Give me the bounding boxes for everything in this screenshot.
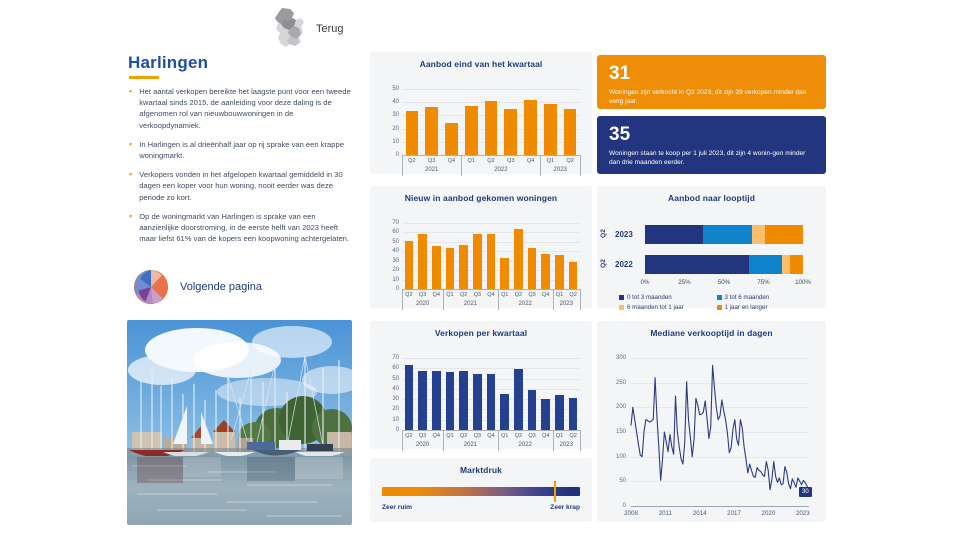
y-axis-tick: 60 [385,365,399,371]
list-item-text: Verkopers vonden in het afgelopen kwarta… [139,169,351,203]
gauge-title: Marktdruk [370,458,592,475]
axis-group-separator [443,289,444,310]
next-page-label: Volgende pagina [180,281,262,293]
legend-item: 0 tot 3 maanden [619,294,717,301]
bar [487,374,496,430]
list-item-text: In Harlingen is al drieënhalf jaar op ri… [139,139,351,161]
x-axis-tick: 2017 [727,510,741,517]
gridline [402,89,580,90]
stat-text: Woningen staan te koop per 1 juli 2023, … [609,149,814,168]
axis-group-separator [580,155,581,176]
chart-aanbod-eind-kwartaal: Aanbod eind van het kwartaal 01020304050… [370,52,592,174]
stacked-bar-segment [749,255,782,274]
axis-group-separator [498,289,499,310]
line-series [597,338,826,523]
y-axis-tick: 40 [385,99,399,105]
bar [405,365,414,430]
x-axis-quarter-label: Q4 [487,433,494,439]
legend-item: 1 jaar en langer [717,304,815,311]
list-item-text: Het aantal verkopen bereikte het laagste… [139,86,351,131]
y-axis-tick: 70 [385,220,399,226]
x-axis-percent-tick: 25% [678,279,690,286]
bar [500,394,509,430]
bar [425,107,438,155]
legend-item: 3 tot 6 maanden [717,294,815,301]
gauge-label-right: Zeer krap [550,504,580,511]
y-axis-tick: 20 [385,126,399,132]
x-axis-quarter-label: Q2 [460,292,467,298]
status-badge-sold: 31 Woningen zijn verkocht in Q2 2023, di… [597,55,826,109]
x-axis-tick: 2020 [762,510,776,517]
bar [564,109,577,155]
bar [432,371,441,430]
page-title: Harlingen [128,53,208,73]
bar [541,254,550,289]
bar [541,399,550,430]
bar [445,123,458,155]
chart-title: Verkopen per kwartaal [370,321,592,338]
title-underline [129,76,159,79]
axis-group-separator [461,155,462,176]
gridline [402,358,580,359]
chart-title: Mediane verkooptijd in dagen [597,321,826,338]
bar [432,246,441,289]
bullet-icon: ▪ [129,86,132,131]
x-axis-percent-tick: 0% [641,279,650,286]
bar [555,395,564,430]
x-axis-quarter-label: Q2 [408,158,415,164]
axis-group-separator [553,430,554,451]
stacked-bar [645,255,803,274]
stacked-bar-segment [703,225,752,244]
x-axis-quarter-label: Q2 [569,433,576,439]
y-axis-tick: 10 [385,139,399,145]
status-badge-listed: 35 Woningen staan te koop per 1 juli 202… [597,116,826,174]
harbour-photo [127,320,352,525]
gauge-label-left: Zeer ruim [382,504,412,511]
gridline [402,368,580,369]
x-axis-quarter-label: Q3 [507,158,514,164]
legend-label: 1 jaar en langer [725,304,768,311]
y-axis-tick: 0 [385,286,399,292]
x-axis-line [402,155,580,156]
chart-mediane-verkooptijd: Mediane verkooptijd in dagen 05010015020… [597,321,826,522]
stack-year-label: 2022 [615,260,633,269]
x-axis-quarter-label: Q2 [487,158,494,164]
next-page-link[interactable]: Volgende pagina [133,269,262,305]
legend-swatch [619,305,624,310]
bar [500,258,509,289]
back-label: Terug [316,23,344,35]
x-axis-quarter-label: Q2 [405,292,412,298]
bar [406,111,419,155]
x-axis-year-label: 2020 [416,301,429,307]
x-axis-quarter-label: Q1 [467,158,474,164]
x-axis-quarter-label: Q1 [446,292,453,298]
x-axis-tick: 2008 [624,510,638,517]
stacked-bar-segment [765,225,803,244]
x-axis-quarter-label: Q3 [528,433,535,439]
bullet-icon: ▪ [129,169,132,203]
x-axis-quarter-label: Q1 [556,292,563,298]
y-axis-tick: 0 [385,427,399,433]
bar [569,398,578,430]
legend-swatch [717,305,722,310]
x-axis-tick: 2011 [659,510,672,517]
list-item: ▪ Het aantal verkopen bereikte het laags… [129,86,351,131]
stacked-bar-segment [752,225,765,244]
insight-list: ▪ Het aantal verkopen bereikte het laags… [129,86,351,252]
x-axis-percent-tick: 50% [718,279,730,286]
x-axis-year-label: 2021 [464,301,477,307]
dashboard-page: Terug Harlingen ▪ Het aantal verkopen be… [0,0,960,540]
x-axis-year-label: 2022 [519,301,532,307]
y-axis-tick: 20 [385,406,399,412]
axis-group-separator [402,430,403,451]
x-axis-quarter-label: Q1 [446,433,453,439]
y-axis-tick: 30 [385,258,399,264]
axis-group-separator [498,430,499,451]
x-axis-tick: 2023 [796,510,810,517]
x-axis-year-label: 2023 [560,442,573,448]
stack-quarter-label: Q2 [600,259,607,268]
stacked-bar [645,225,803,244]
back-link[interactable]: Terug [268,6,344,52]
chart-title: Nieuw in aanbod gekomen woningen [370,186,592,203]
bar [418,234,427,289]
bar [473,374,482,430]
pie-logo-icon [133,269,169,305]
x-axis-quarter-label: Q1 [501,292,508,298]
x-axis-quarter-label: Q4 [487,292,494,298]
list-item: ▪ Op de woningmarkt van Harlingen is spr… [129,211,351,245]
x-axis-year-label: 2023 [554,167,567,173]
chart-title: Aanbod naar looptijd [597,186,826,203]
stacked-bar-segment [645,225,703,244]
x-axis-year-label: 2023 [560,301,573,307]
axis-group-separator [402,155,403,176]
gauge-marktdruk: Marktdruk Zeer ruim Zeer krap [370,458,592,522]
legend-item: 6 maanden tot 1 jaar [619,304,717,311]
x-axis-quarter-label: Q2 [515,292,522,298]
stacked-bar-segment [790,255,803,274]
x-axis-percent-tick: 100% [795,279,811,286]
bar [418,371,427,430]
bar [504,109,517,155]
stack-year-label: 2023 [615,230,633,239]
x-axis-year-label: 2021 [425,167,438,173]
gridline [402,223,580,224]
bar [446,372,455,430]
x-axis-quarter-label: Q4 [432,433,439,439]
y-axis-tick: 30 [385,112,399,118]
legend-label: 6 maanden tot 1 jaar [627,304,684,311]
x-axis-percent-tick: 75% [757,279,769,286]
y-axis-tick: 60 [385,229,399,235]
y-axis-tick: 10 [385,417,399,423]
stat-text: Woningen zijn verkocht in Q2 2023, dit z… [609,88,814,107]
line-end-label: 30 [799,487,812,497]
x-axis-quarter-label: Q1 [556,433,563,439]
legend-swatch [619,295,624,300]
x-axis-quarter-label: Q4 [448,158,455,164]
bullet-icon: ▪ [129,139,132,161]
x-axis-quarter-label: Q2 [515,433,522,439]
bar [485,101,498,155]
x-axis-quarter-label: Q3 [419,292,426,298]
x-axis-quarter-label: Q3 [419,433,426,439]
x-axis-quarter-label: Q3 [428,158,435,164]
stat-value: 31 [609,63,814,84]
axis-group-separator [580,430,581,451]
legend-label: 0 tot 3 maanden [627,294,672,301]
y-axis-tick: 70 [385,355,399,361]
y-axis-tick: 50 [385,239,399,245]
chart-title: Aanbod eind van het kwartaal [370,52,592,69]
y-axis-tick: 20 [385,267,399,273]
list-item-text: Op de woningmarkt van Harlingen is sprak… [139,211,351,245]
y-axis-tick: 50 [385,376,399,382]
bar [487,234,496,289]
x-axis-year-label: 2022 [494,167,507,173]
x-axis-quarter-label: Q2 [566,158,573,164]
x-axis-quarter-label: Q3 [474,433,481,439]
x-axis-quarter-label: Q2 [460,433,467,439]
x-axis-year-label: 2020 [416,442,429,448]
bar [528,248,537,289]
legend-label: 3 tot 6 maanden [725,294,770,301]
y-axis-tick: 30 [385,396,399,402]
y-axis-tick: 40 [385,248,399,254]
x-axis-quarter-label: Q3 [528,292,535,298]
x-axis-quarter-label: Q2 [569,292,576,298]
x-axis-year-label: 2021 [464,442,477,448]
bar [465,106,478,155]
netherlands-map-icon [268,6,308,52]
axis-group-separator [540,155,541,176]
axis-group-separator [553,289,554,310]
stacked-bar-segment [782,255,790,274]
x-axis-quarter-label: Q4 [527,158,534,164]
gridline [402,232,580,233]
chart-aanbod-naar-looptijd: Aanbod naar looptijd Q22023Q220220%25%50… [597,186,826,308]
y-axis-tick: 50 [385,86,399,92]
chart-legend: 0 tot 3 maanden3 tot 6 maanden6 maanden … [619,294,814,314]
bar [569,262,578,289]
axis-group-separator [402,289,403,310]
x-axis-quarter-label: Q4 [542,292,549,298]
stat-value: 35 [609,124,814,145]
list-item: ▪ Verkopers vonden in het afgelopen kwar… [129,169,351,203]
list-item: ▪ In Harlingen is al drieënhalf jaar op … [129,139,351,161]
gauge-marker [554,481,556,502]
gauge-track [382,487,580,496]
bar [459,371,468,430]
bullet-icon: ▪ [129,211,132,245]
bar [446,248,455,289]
x-axis-quarter-label: Q3 [474,292,481,298]
x-axis-quarter-label: Q1 [501,433,508,439]
x-axis-quarter-label: Q2 [405,433,412,439]
y-axis-tick: 40 [385,386,399,392]
bar [528,390,537,430]
legend-swatch [717,295,722,300]
bar [514,229,523,289]
bar [514,369,523,430]
bar [544,104,557,155]
y-axis-tick: 0 [385,152,399,158]
chart-nieuw-in-aanbod: Nieuw in aanbod gekomen woningen 0102030… [370,186,592,308]
x-axis-year-label: 2022 [519,442,532,448]
stack-quarter-label: Q2 [600,229,607,238]
x-axis-tick: 2014 [693,510,707,517]
axis-group-separator [580,289,581,310]
bar [459,245,468,289]
x-axis-quarter-label: Q1 [547,158,554,164]
bar [555,255,564,289]
axis-group-separator [443,430,444,451]
y-axis-tick: 10 [385,277,399,283]
stacked-bar-segment [645,255,749,274]
chart-verkopen-per-kwartaal: Verkopen per kwartaal 010203040506070Q2Q… [370,321,592,449]
harbour-photo-graphic [127,320,352,525]
bar [473,234,482,289]
bar [405,241,414,289]
bar [524,100,537,155]
x-axis-quarter-label: Q4 [432,292,439,298]
x-axis-quarter-label: Q4 [542,433,549,439]
